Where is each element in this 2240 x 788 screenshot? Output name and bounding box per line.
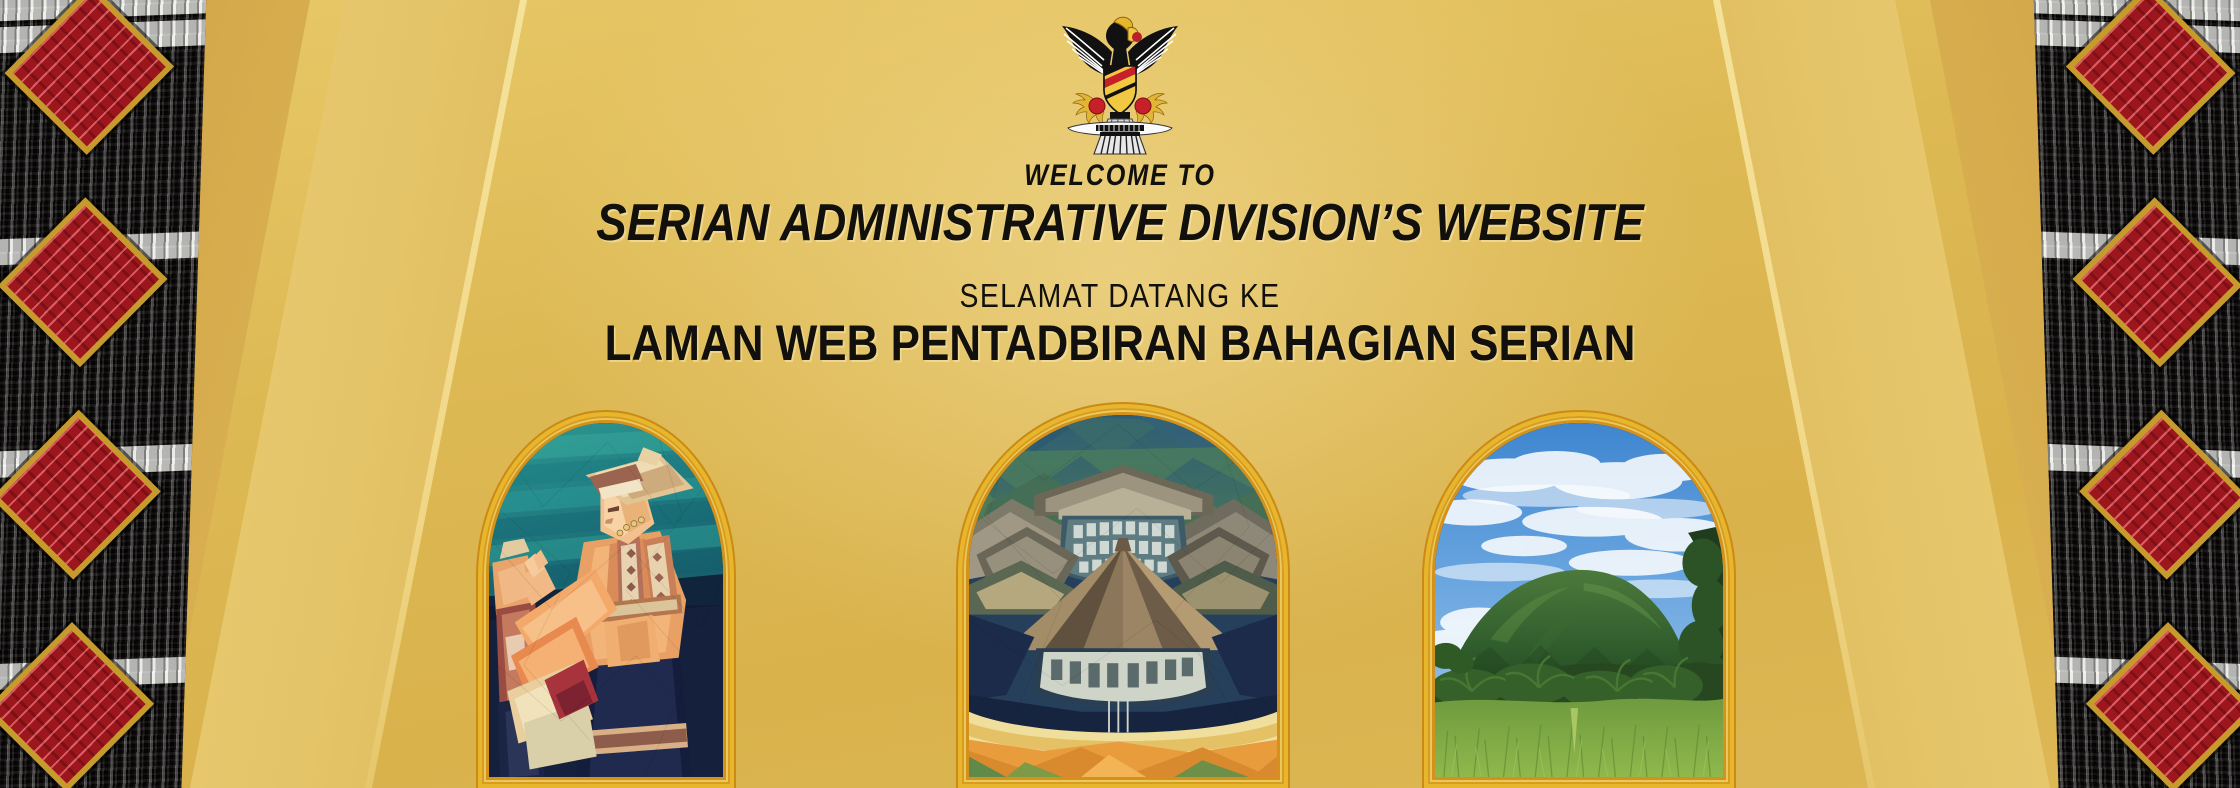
beadwork-diamonds-right [2032,0,2240,788]
hill-landscape-image [1435,423,1723,777]
beadwork-diamond [2088,418,2240,571]
arch-image-frame [966,412,1280,780]
welcome-text-block: WELCOME TO SERIAN ADMINISTRATIVE DIVISIO… [0,160,2240,372]
beadwork-diamond [0,418,152,571]
arch-traditional-dancers[interactable] [478,412,734,788]
page-title-malay: LAMAN WEB PENTADBIRAN BAHAGIAN SERIAN [134,315,2105,372]
selamat-datang-label: SELAMAT DATANG KE [157,279,2083,314]
beadwork-border-left [0,0,208,788]
arch-image-frame [486,420,726,780]
beadwork-diamond [0,631,146,784]
beadwork-border-right [2032,0,2240,788]
arch-image-frame [1432,420,1726,780]
beadwork-diamond [2094,631,2240,784]
arch-administrative-building[interactable] [958,404,1288,788]
arch-hill-landscape[interactable] [1424,412,1734,788]
beadwork-diamond [13,0,166,146]
beadwork-diamonds-left [0,0,208,788]
beadwork-diamond [2074,0,2227,146]
sarawak-coat-of-arms-icon [1040,6,1200,156]
welcome-banner: WELCOME TO SERIAN ADMINISTRATIVE DIVISIO… [0,0,2240,788]
welcome-to-label: WELCOME TO [179,160,2061,192]
administrative-building-image [969,415,1277,777]
traditional-dancers-image [489,423,723,777]
page-title-english: SERIAN ADMINISTRATIVE DIVISION’S WEBSITE [134,194,2105,253]
